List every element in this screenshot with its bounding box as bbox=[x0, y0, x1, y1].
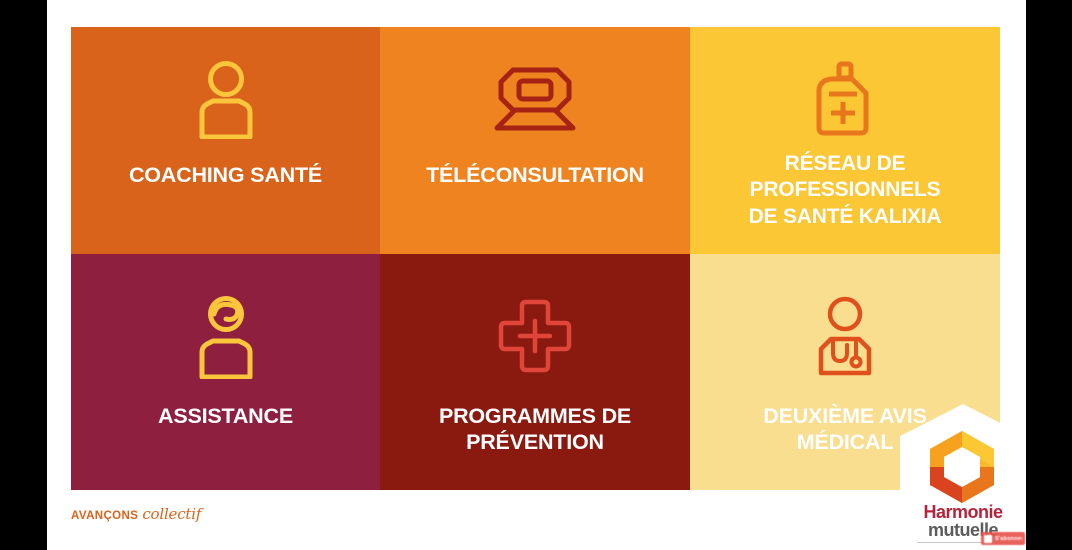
medical-bag-icon bbox=[808, 58, 882, 140]
slide-canvas: COACHING SANTÉ TÉLÉCONSULTATION bbox=[47, 0, 1026, 550]
tile-label-line: RÉSEAU DE bbox=[749, 151, 942, 177]
tile-reseau-kalixia[interactable]: RÉSEAU DE PROFESSIONNELS DE SANTÉ KALIXI… bbox=[690, 27, 1000, 254]
doctor-stethoscope-icon bbox=[812, 295, 878, 377]
logo-vyv-brand: vyv bbox=[976, 546, 999, 550]
tile-label-reseau-kalixia: RÉSEAU DE PROFESSIONNELS DE SANTÉ KALIXI… bbox=[739, 151, 952, 230]
vyv-hexagon-icon bbox=[928, 430, 996, 504]
subscribe-label: S'abonner bbox=[995, 536, 1022, 542]
tile-icon-wrap bbox=[380, 254, 690, 382]
cross-plus-icon bbox=[496, 297, 574, 375]
tile-programmes-prevention[interactable]: PROGRAMMES DE PRÉVENTION bbox=[380, 254, 690, 490]
logo-word-harmonie: Harmonie bbox=[900, 504, 1026, 522]
tile-icon-wrap bbox=[71, 254, 380, 382]
tile-coaching-sante[interactable]: COACHING SANTÉ bbox=[71, 27, 380, 254]
tile-icon-wrap bbox=[690, 27, 1000, 145]
harmonie-mutuelle-logo: Harmonie mutuelle GROUPE vyv bbox=[900, 404, 1026, 550]
tile-label-line: PROFESSIONNELS bbox=[749, 177, 942, 203]
tile-label-coaching-sante: COACHING SANTÉ bbox=[119, 163, 332, 188]
tile-icon-wrap bbox=[380, 27, 690, 145]
signature-bold-text: AVANÇONS bbox=[71, 510, 138, 522]
headset-person-icon bbox=[193, 293, 259, 379]
services-grid: COACHING SANTÉ TÉLÉCONSULTATION bbox=[71, 27, 1000, 490]
tile-label-assistance: ASSISTANCE bbox=[148, 404, 303, 429]
tile-label-line: PRÉVENTION bbox=[439, 430, 631, 456]
signature-script-text: collectif bbox=[142, 505, 201, 523]
tile-icon-wrap bbox=[690, 254, 1000, 382]
subscribe-badge[interactable]: S'abonner bbox=[981, 532, 1025, 545]
tile-label-line: DE SANTÉ KALIXIA bbox=[749, 204, 942, 230]
person-icon bbox=[193, 59, 259, 139]
tile-icon-wrap bbox=[71, 27, 380, 145]
tile-label-line: PROGRAMMES DE bbox=[439, 404, 631, 430]
tile-assistance[interactable]: ASSISTANCE bbox=[71, 254, 380, 490]
slide-stage: COACHING SANTÉ TÉLÉCONSULTATION bbox=[0, 0, 1072, 550]
tile-teleconsultation[interactable]: TÉLÉCONSULTATION bbox=[380, 27, 690, 254]
tile-label-teleconsultation: TÉLÉCONSULTATION bbox=[416, 163, 654, 188]
subscribe-icon bbox=[984, 535, 992, 543]
signature-avancons-collectif: AVANÇONS collectif bbox=[71, 505, 201, 523]
tile-label-programmes-prevention: PROGRAMMES DE PRÉVENTION bbox=[429, 404, 641, 456]
laptop-icon bbox=[493, 64, 577, 134]
